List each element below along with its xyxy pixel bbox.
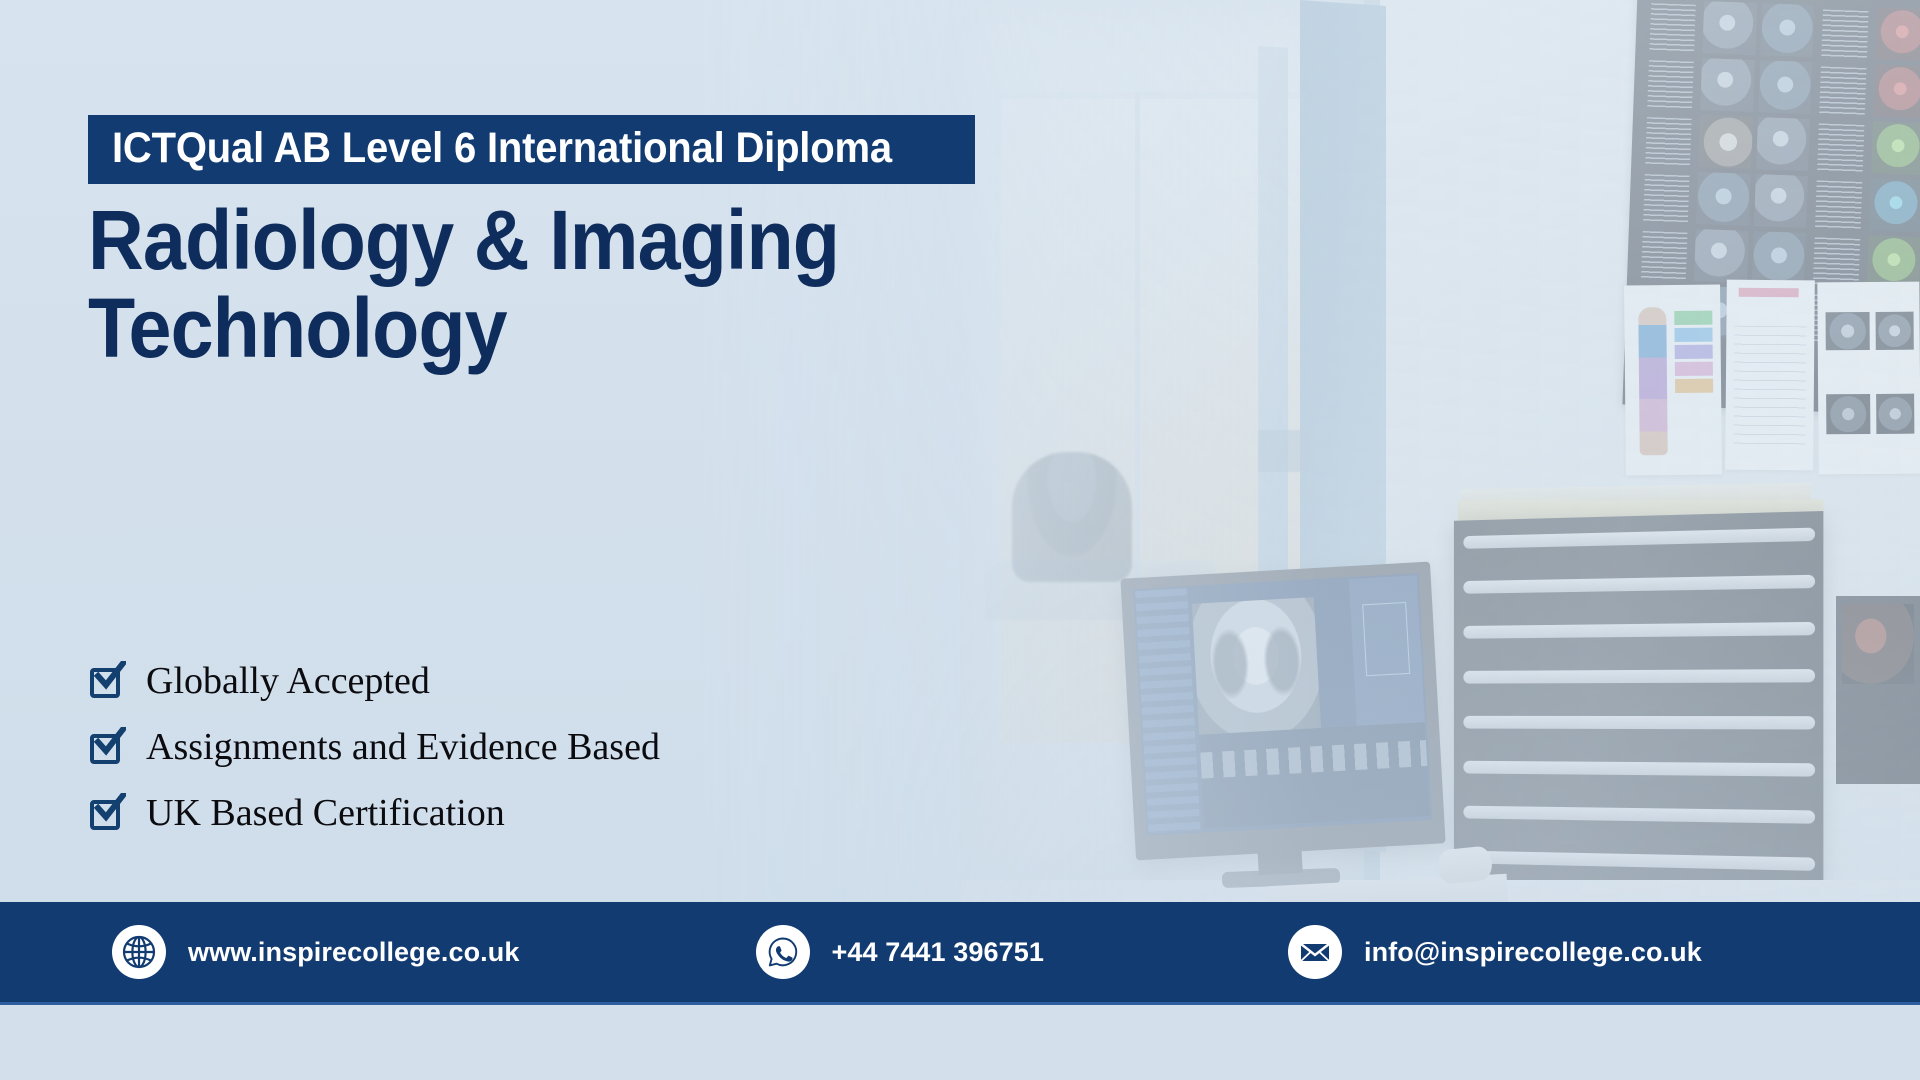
list-item: Assignments and Evidence Based bbox=[88, 714, 660, 780]
whatsapp-icon bbox=[756, 925, 810, 979]
list-item-label: Globally Accepted bbox=[146, 662, 430, 700]
check-mark-icon bbox=[94, 727, 126, 757]
footer-bottom-strip bbox=[0, 1002, 1920, 1080]
email-label: info@inspirecollege.co.uk bbox=[1364, 937, 1702, 968]
page-title: Radiology & Imaging Technology bbox=[88, 196, 948, 372]
page-title-line-1: Radiology & Imaging bbox=[88, 196, 879, 284]
feature-checklist: Globally Accepted Assignments and Eviden… bbox=[88, 648, 660, 846]
contact-email[interactable]: info@inspirecollege.co.uk bbox=[1288, 902, 1702, 1002]
checkbox-checked-icon bbox=[88, 795, 124, 831]
list-item: UK Based Certification bbox=[88, 780, 660, 846]
contact-phone[interactable]: +44 7441 396751 bbox=[756, 902, 1044, 1002]
globe-icon bbox=[112, 925, 166, 979]
qualification-badge: ICTQual AB Level 6 International Diploma bbox=[88, 115, 975, 184]
check-mark-icon bbox=[94, 793, 126, 823]
phone-label: +44 7441 396751 bbox=[832, 937, 1044, 968]
course-promo-banner: ICTQual AB Level 6 International Diploma… bbox=[0, 0, 1920, 1080]
list-item-label: Assignments and Evidence Based bbox=[146, 728, 660, 766]
qualification-badge-label: ICTQual AB Level 6 International Diploma bbox=[112, 127, 892, 170]
checkbox-checked-icon bbox=[88, 663, 124, 699]
banner-content: ICTQual AB Level 6 International Diploma… bbox=[0, 0, 1920, 1080]
envelope-icon bbox=[1288, 925, 1342, 979]
checkbox-checked-icon bbox=[88, 729, 124, 765]
list-item: Globally Accepted bbox=[88, 648, 660, 714]
contact-footer-bar: www.inspirecollege.co.uk +44 7441 396751 bbox=[0, 902, 1920, 1002]
page-title-line-2: Technology bbox=[88, 284, 879, 372]
check-mark-icon bbox=[94, 661, 126, 691]
website-label: www.inspirecollege.co.uk bbox=[188, 937, 520, 968]
contact-website[interactable]: www.inspirecollege.co.uk bbox=[112, 902, 520, 1002]
list-item-label: UK Based Certification bbox=[146, 794, 505, 832]
